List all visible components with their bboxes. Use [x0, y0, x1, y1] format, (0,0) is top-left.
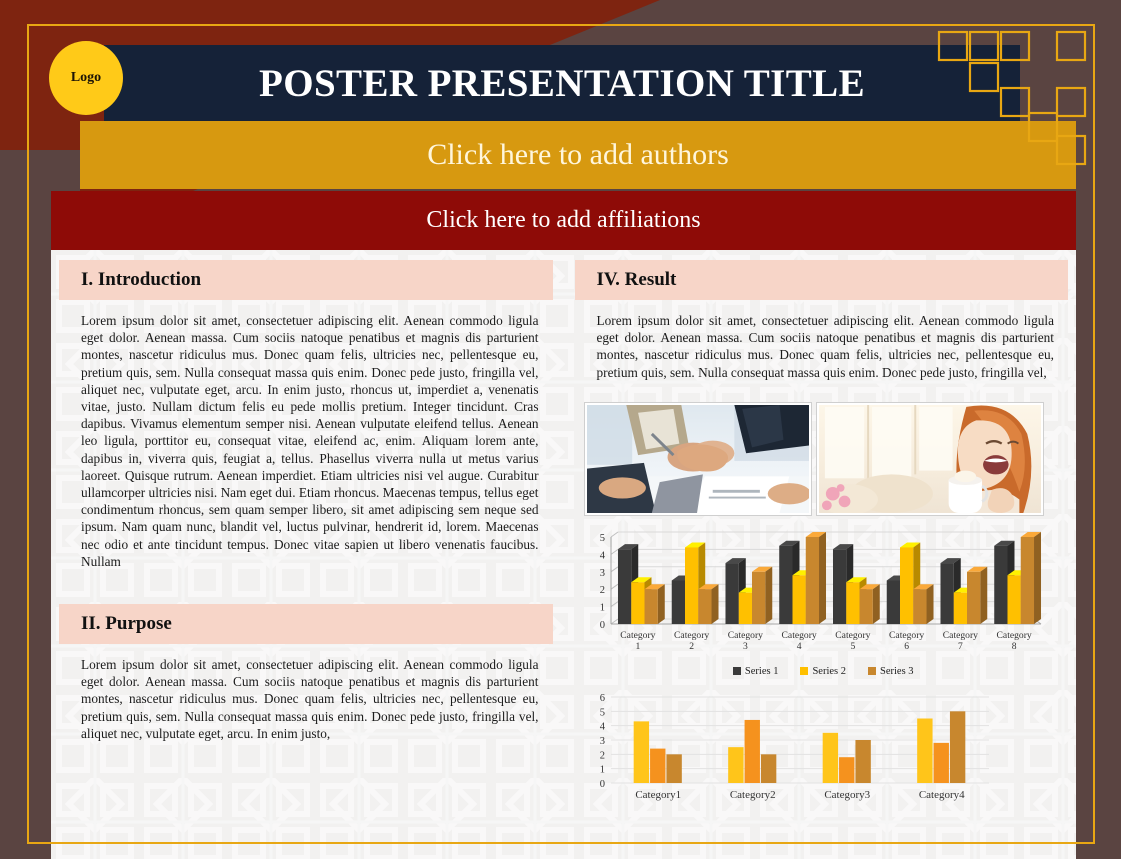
woman-coffee-image	[819, 405, 1041, 513]
svg-text:5: 5	[599, 707, 604, 718]
poster-canvas: POSTER PRESENTATION TITLE Click here to …	[0, 0, 1121, 859]
svg-text:Category: Category	[835, 630, 870, 641]
affiliations-bar[interactable]: Click here to add affiliations	[51, 191, 1076, 250]
left-column: I. Introduction Lorem ipsum dolor sit am…	[59, 260, 553, 859]
chart-1-legend: Series 1Series 2Series 3	[583, 666, 1065, 677]
bar-chart-categories-1-4: 0123456Category1Category2Category3Catego…	[583, 691, 1049, 809]
poster-title-bar: POSTER PRESENTATION TITLE	[104, 45, 1020, 121]
svg-text:Category: Category	[620, 630, 655, 641]
svg-text:0: 0	[599, 779, 604, 790]
svg-text:1: 1	[599, 764, 604, 775]
legend-item: Series 1	[733, 666, 779, 677]
svg-text:7: 7	[957, 641, 962, 652]
svg-text:2: 2	[599, 585, 604, 596]
legend-label: Series 3	[880, 666, 914, 677]
svg-text:4: 4	[599, 550, 605, 561]
svg-text:Category: Category	[781, 630, 816, 641]
logo-label: Logo	[71, 70, 101, 86]
svg-text:1: 1	[599, 602, 604, 613]
svg-text:2: 2	[689, 641, 694, 652]
svg-text:Category: Category	[727, 630, 762, 641]
authors-placeholder-text[interactable]: Click here to add authors	[427, 138, 729, 172]
handshake-image	[587, 405, 809, 513]
svg-text:6: 6	[904, 641, 909, 652]
photo-row	[575, 403, 1069, 515]
svg-text:1: 1	[635, 641, 640, 652]
business-handshake-photo[interactable]	[585, 403, 811, 515]
legend-item: Series 2	[800, 666, 846, 677]
poster-columns: I. Introduction Lorem ipsum dolor sit am…	[51, 250, 1076, 859]
svg-text:3: 3	[742, 641, 747, 652]
svg-text:6: 6	[599, 693, 604, 704]
section-body-purpose: Lorem ipsum dolor sit amet, consectetuer…	[59, 656, 553, 742]
legend-item: Series 3	[868, 666, 914, 677]
svg-text:2: 2	[599, 750, 604, 761]
svg-text:4: 4	[796, 641, 801, 652]
legend-label: Series 2	[812, 666, 846, 677]
svg-text:3: 3	[599, 568, 604, 579]
column-spacer	[59, 570, 553, 604]
svg-text:Category: Category	[942, 630, 977, 641]
section-body-introduction: Lorem ipsum dolor sit amet, consectetuer…	[59, 312, 553, 570]
section-title: IV. Result	[597, 269, 677, 291]
chart-1-container: 012345Category1Category2Category3Categor…	[575, 529, 1069, 677]
section-header-introduction: I. Introduction	[59, 260, 553, 300]
woman-with-coffee-photo[interactable]	[817, 403, 1043, 515]
legend-swatch	[868, 667, 876, 675]
section-header-purpose: II. Purpose	[59, 604, 553, 644]
square-lattice-decoration	[933, 26, 1093, 226]
section-header-result: IV. Result	[575, 260, 1069, 300]
legend-swatch	[800, 667, 808, 675]
svg-text:Category: Category	[996, 630, 1031, 641]
svg-text:Category4: Category4	[918, 789, 964, 801]
svg-text:4: 4	[599, 721, 605, 732]
poster-body: I. Introduction Lorem ipsum dolor sit am…	[51, 250, 1076, 859]
svg-text:3: 3	[599, 736, 604, 747]
svg-text:Category: Category	[674, 630, 709, 641]
svg-text:0: 0	[599, 620, 604, 631]
svg-text:Category3: Category3	[824, 789, 870, 801]
chart-2-container: 0123456Category1Category2Category3Catego…	[575, 691, 1069, 809]
svg-text:Category1: Category1	[635, 789, 681, 801]
section-title: II. Purpose	[81, 613, 172, 635]
page-title: POSTER PRESENTATION TITLE	[259, 61, 865, 106]
svg-text:5: 5	[599, 533, 604, 544]
section-title: I. Introduction	[81, 269, 201, 291]
section-body-result: Lorem ipsum dolor sit amet, consectetuer…	[575, 312, 1069, 381]
bar-chart-categories-1-8: 012345Category1Category2Category3Categor…	[583, 529, 1049, 664]
svg-text:Category2: Category2	[729, 789, 775, 801]
authors-bar[interactable]: Click here to add authors	[80, 121, 1076, 189]
legend-label: Series 1	[745, 666, 779, 677]
svg-text:Category: Category	[889, 630, 924, 641]
svg-text:5: 5	[850, 641, 855, 652]
logo-placeholder[interactable]: Logo	[49, 41, 123, 115]
svg-text:8: 8	[1011, 641, 1016, 652]
right-column: IV. Result Lorem ipsum dolor sit amet, c…	[575, 260, 1069, 859]
legend-swatch	[733, 667, 741, 675]
affiliations-placeholder-text[interactable]: Click here to add affiliations	[426, 207, 700, 234]
